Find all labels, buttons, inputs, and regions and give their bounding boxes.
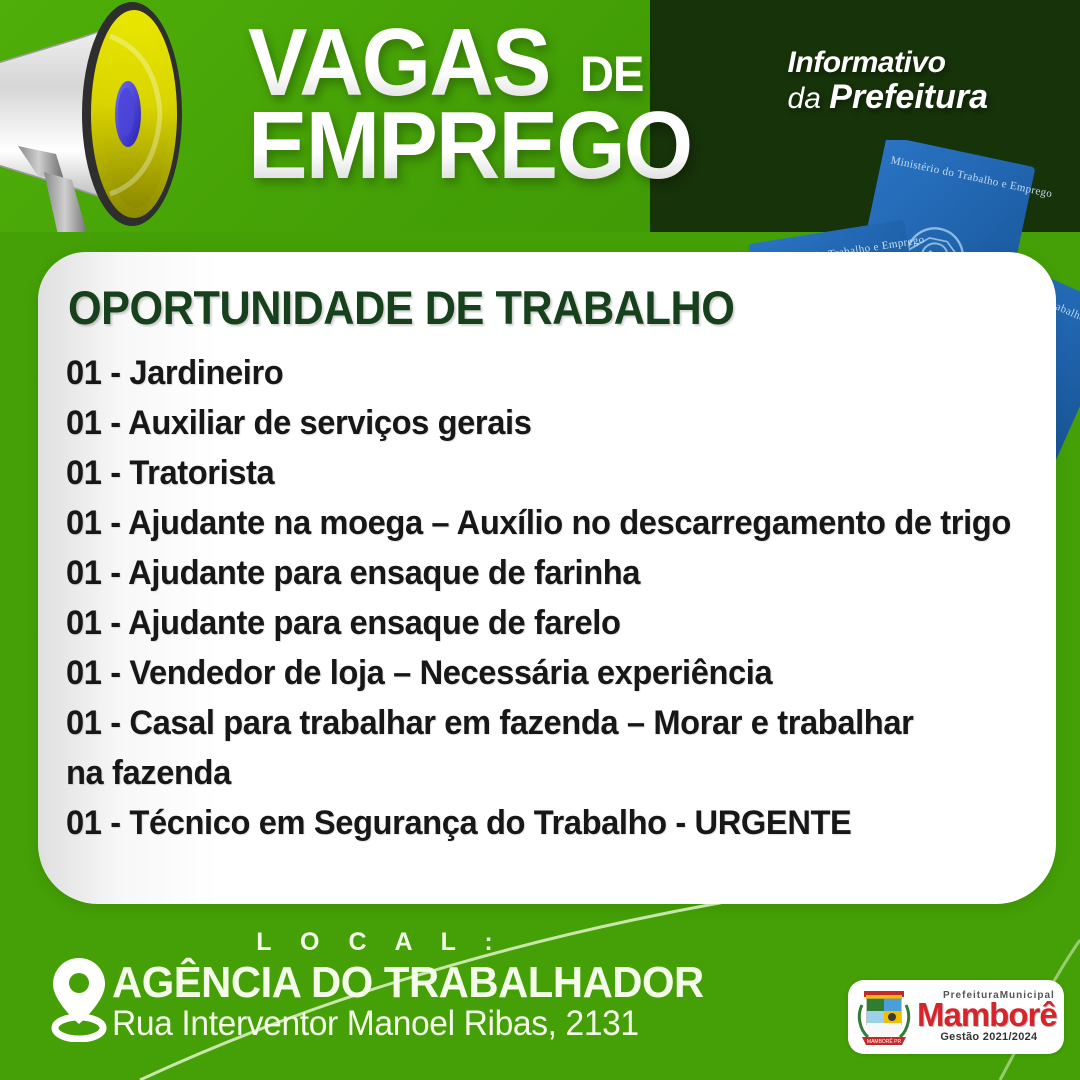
agency-address: Rua Interventor Manoel Ribas, 2131 bbox=[112, 1004, 639, 1044]
job-list-item: 01 - Ajudante para ensaque de farinha bbox=[66, 548, 1001, 598]
city-crest-icon: MAMBORÊ PR bbox=[854, 985, 914, 1049]
informativo-da: da bbox=[788, 82, 830, 115]
informativo-prefeitura: Prefeitura bbox=[829, 78, 988, 116]
card-heading: OPORTUNIDADE DE TRABALHO bbox=[68, 280, 734, 335]
logo-gestao: Gestão 2021/2024 bbox=[917, 1032, 1061, 1043]
title-emprego: EMPREGO bbox=[248, 105, 691, 188]
job-list-item: 01 - Ajudante na moega – Auxílio no desc… bbox=[66, 498, 1001, 548]
job-list-item: 01 - Jardineiro bbox=[66, 348, 1001, 398]
poster-root: VAGASDE EMPREGO Informativo da Prefeitur… bbox=[0, 0, 1080, 1080]
megaphone-icon bbox=[0, 0, 260, 232]
job-list-item-continuation: na fazenda bbox=[66, 748, 1001, 798]
poster-title: VAGASDE EMPREGO bbox=[248, 22, 768, 187]
logo-city-name: Mamborê bbox=[917, 999, 1061, 1030]
svg-text:MAMBORÊ PR: MAMBORÊ PR bbox=[867, 1037, 902, 1045]
job-list-item: 01 - Técnico em Segurança do Trabalho - … bbox=[66, 798, 1001, 848]
local-label: L O C A L : bbox=[255, 928, 505, 957]
job-list-item: 01 - Vendedor de loja – Necessária exper… bbox=[66, 648, 1001, 698]
city-logo: MAMBORÊ PR Prefeitura Municipal Mamborê … bbox=[848, 980, 1064, 1054]
content-card: OPORTUNIDADE DE TRABALHO 01 - Jardineiro… bbox=[38, 252, 1056, 904]
informativo-label: Informativo da Prefeitura bbox=[788, 48, 988, 114]
job-list: 01 - Jardineiro 01 - Auxiliar de serviço… bbox=[66, 348, 1040, 848]
job-list-item: 01 - Tratorista bbox=[66, 448, 1001, 498]
job-list-item: 01 - Ajudante para ensaque de farelo bbox=[66, 598, 1001, 648]
informativo-line-1: Informativo bbox=[788, 48, 988, 78]
location-pin-icon bbox=[48, 956, 110, 1042]
job-list-item: 01 - Auxiliar de serviços gerais bbox=[66, 398, 1001, 448]
title-de: DE bbox=[580, 53, 643, 96]
job-list-item: 01 - Casal para trabalhar em fazenda – M… bbox=[66, 698, 1001, 748]
title-row-2: EMPREGO bbox=[248, 105, 768, 188]
city-logo-text: Prefeitura Municipal Mamborê Gestão 2021… bbox=[917, 991, 1061, 1042]
informativo-line-2: da Prefeitura bbox=[788, 80, 988, 114]
agency-name: AGÊNCIA DO TRABALHADOR bbox=[112, 958, 704, 1008]
